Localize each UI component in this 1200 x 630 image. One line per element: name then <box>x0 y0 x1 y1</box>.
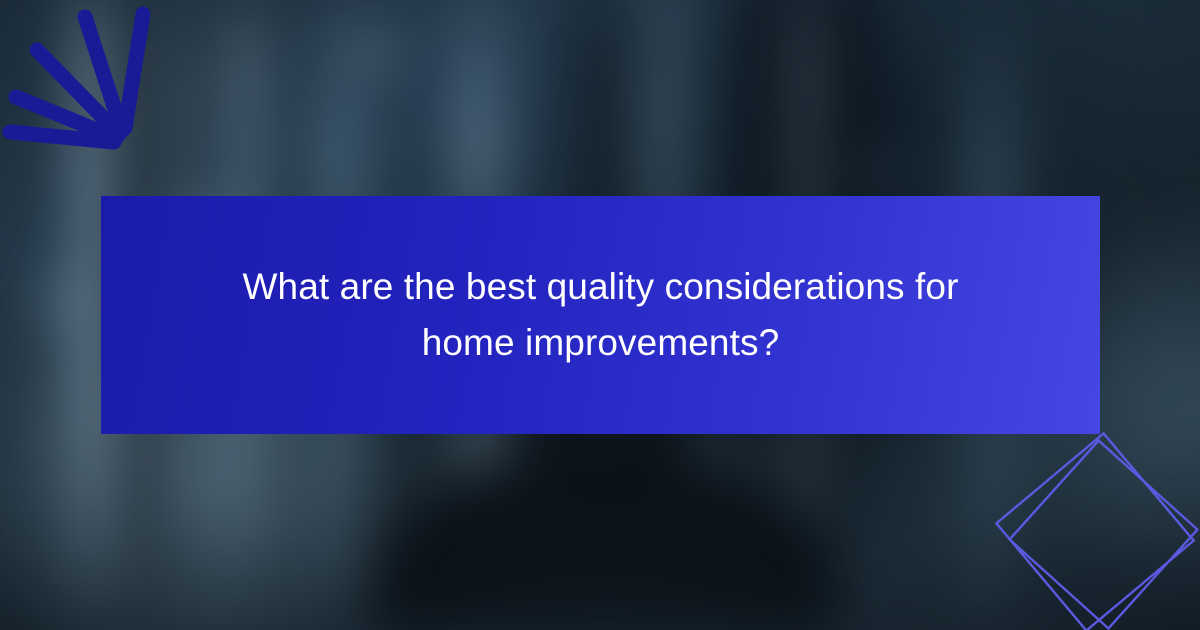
share-card-canvas: What are the best quality considerations… <box>0 0 1200 630</box>
square-outline-front <box>996 433 1193 630</box>
question-text: What are the best quality considerations… <box>221 259 981 371</box>
starburst-ray-5 <box>10 132 114 142</box>
rotated-squares-icon <box>990 424 1200 630</box>
square-outline-back <box>1010 441 1198 629</box>
starburst-icon <box>0 0 180 160</box>
question-banner: What are the best quality considerations… <box>101 196 1100 434</box>
starburst-ray-1 <box>125 14 143 128</box>
